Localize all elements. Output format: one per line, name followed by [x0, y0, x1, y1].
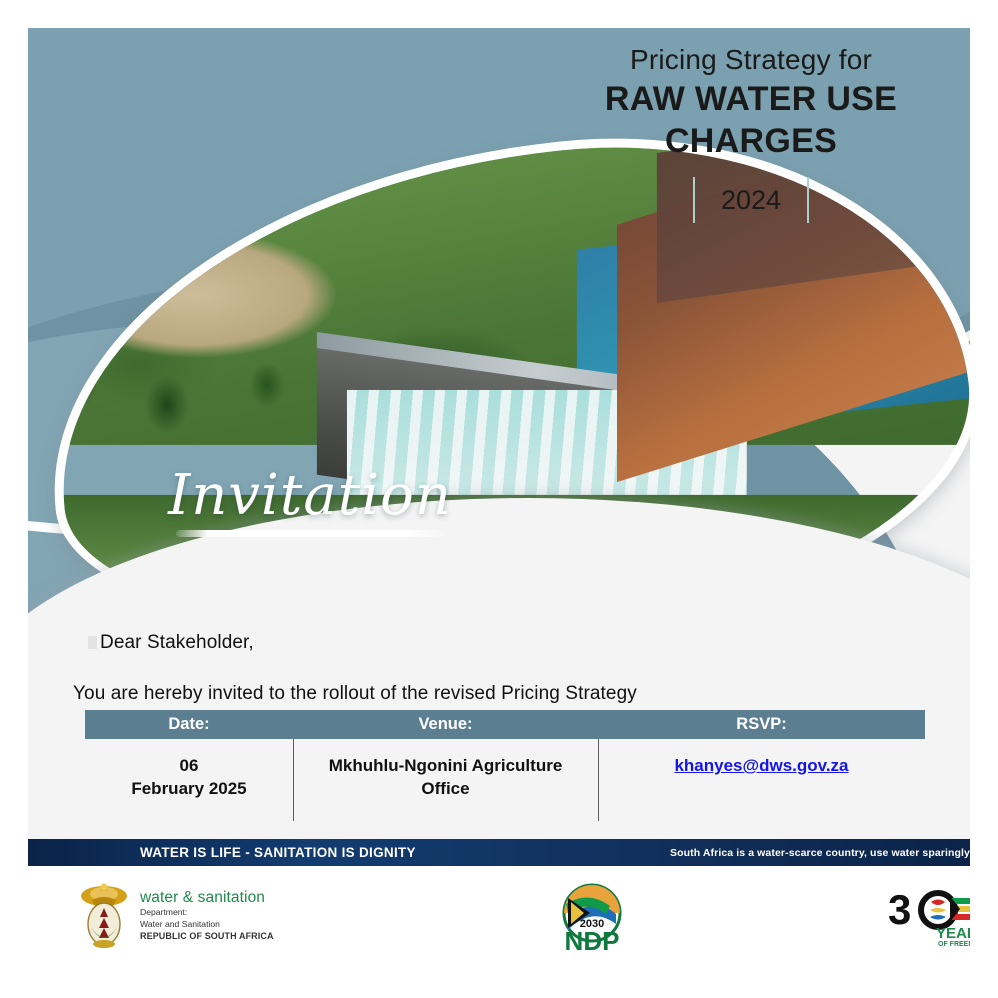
details-table-row: 06 February 2025 Mkhuhlu-Ngonini Agricul…: [85, 739, 925, 829]
hero-title-block: Pricing Strategy for RAW WATER USE CHARG…: [566, 42, 936, 223]
title-line-2: RAW WATER USE: [566, 79, 936, 119]
dws-title: water & sanitation: [140, 889, 265, 906]
column-divider-2: [598, 739, 599, 821]
invitation-page: Pricing Strategy for RAW WATER USE CHARG…: [28, 28, 970, 970]
cell-venue: Mkhuhlu-Ngonini Agriculture Office: [293, 739, 598, 829]
hero-banner: Pricing Strategy for RAW WATER USE CHARG…: [28, 28, 970, 628]
details-table: Date: Venue: RSVP: 06 February 2025 Mkhu…: [85, 710, 925, 829]
dws-wordmark: water & sanitation Department: Water and…: [140, 889, 274, 942]
slogan-primary: WATER IS LIFE - SANITATION IS DIGNITY: [140, 845, 416, 860]
logo-row: water & sanitation Department: Water and…: [28, 866, 970, 970]
thirty-years-of-freedom-logo: 3 YEARS OF FREEDOM: [886, 886, 970, 948]
svg-text:3: 3: [888, 886, 911, 933]
title-line-1: Pricing Strategy for: [566, 42, 936, 77]
header-venue: Venue:: [293, 710, 598, 739]
header-date: Date:: [85, 710, 293, 739]
venue-line-1: Mkhuhlu-Ngonini Agriculture: [293, 755, 598, 778]
venue-line-2: Office: [293, 778, 598, 801]
cell-date: 06 February 2025: [85, 739, 293, 829]
salutation-text: Dear Stakeholder,: [100, 632, 254, 653]
slogan-secondary: South Africa is a water-scarce country, …: [670, 847, 970, 859]
dws-subtitle: Department: Water and Sanitation REPUBLI…: [140, 907, 274, 943]
dws-logo: water & sanitation Department: Water and…: [78, 880, 274, 952]
of-freedom-text: OF FREEDOM: [938, 941, 970, 948]
date-month-year: February 2025: [85, 778, 293, 801]
cell-rsvp: khanyes@dws.gov.za: [598, 739, 925, 829]
footer-slogan-banner: WATER IS LIFE - SANITATION IS DIGNITY So…: [28, 839, 970, 866]
date-day: 06: [85, 755, 293, 778]
salutation: Dear Stakeholder,: [88, 632, 254, 654]
ndp-acronym-text: NDP: [565, 926, 620, 954]
column-divider-1: [293, 739, 294, 821]
year-label: 2024: [721, 185, 781, 216]
salutation-marker: [88, 636, 97, 649]
year-rule-left: [693, 177, 695, 223]
dws-line-2: Water and Sanitation: [140, 919, 274, 931]
ndp-logo: 2030 NDP: [548, 880, 636, 954]
rsvp-email-link[interactable]: khanyes@dws.gov.za: [674, 756, 848, 775]
invitation-script-block: Invitation: [140, 468, 480, 537]
invitation-script-word: Invitation: [140, 468, 480, 524]
title-line-3: CHARGES: [566, 121, 936, 161]
invitation-brush-underline: [176, 530, 444, 537]
south-africa-coat-of-arms-icon: [78, 880, 130, 952]
year-row: 2024: [566, 177, 936, 223]
invitation-sentence: You are hereby invited to the rollout of…: [73, 683, 637, 705]
dws-line-1: Department:: [140, 907, 274, 919]
dws-line-3: REPUBLIC OF SOUTH AFRICA: [140, 931, 274, 941]
header-rsvp: RSVP:: [598, 710, 925, 739]
years-text: YEARS: [936, 925, 970, 942]
year-rule-right: [807, 177, 809, 223]
details-table-header: Date: Venue: RSVP:: [85, 710, 925, 739]
